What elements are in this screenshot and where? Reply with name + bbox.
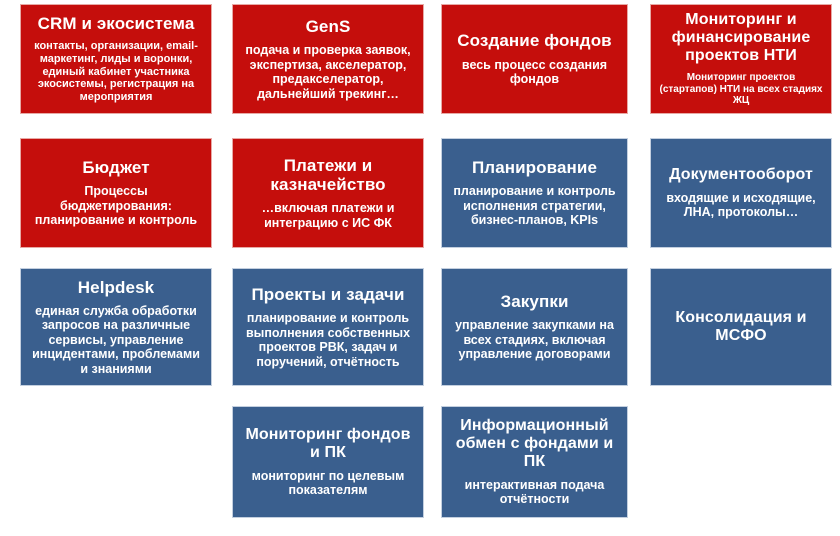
tile-sozdanie-fondov[interactable]: Создание фондов весь процесс создания фо… [441,4,628,114]
tile-description: единая служба обработки запросов на разл… [29,304,203,377]
tile-description: Мониторинг проектов (стартапов) НТИ на в… [659,72,823,107]
tile-proekty-i-zadachi[interactable]: Проекты и задачи планирование и контроль… [232,268,424,386]
tile-description: весь процесс создания фондов [450,58,619,87]
tile-monitoring-i-finansirovanie-proektov-nti[interactable]: Мониторинг и финансирование проектов НТИ… [650,4,832,114]
module-tile-board: CRM и экосистема контакты, организации, … [0,0,840,536]
tile-crm-i-ekosistema[interactable]: CRM и экосистема контакты, организации, … [20,4,212,114]
tile-title: Helpdesk [78,278,154,297]
tile-platezhi-i-kaznacheystvo[interactable]: Платежи и казначейство …включая платежи … [232,138,424,248]
tile-title: Создание фондов [457,31,611,50]
tile-description: …включая платежи и интеграцию с ИС ФК [241,201,415,230]
tile-description: Процессы бюджетирования: планирование и … [29,184,203,228]
tile-title: Консолидация и МСФО [659,309,823,345]
tile-title: Мониторинг и финансирование проектов НТИ [659,11,823,65]
tile-helpdesk[interactable]: Helpdesk единая служба обработки запросо… [20,268,212,386]
tile-description: контакты, организации, email-маркетинг, … [29,40,203,104]
tile-byudzhet[interactable]: Бюджет Процессы бюджетирования: планиров… [20,138,212,248]
tile-title: Планирование [472,158,597,177]
tile-title: Информационный обмен с фондами и ПК [450,417,619,471]
tile-title: Закупки [501,292,569,311]
tile-description: управление закупками на всех стадиях, вк… [450,318,619,362]
tile-title: CRM и экосистема [38,14,195,33]
tile-title: Проекты и задачи [251,285,404,304]
tile-gens[interactable]: GenS подача и проверка заявок, экспертиз… [232,4,424,114]
tile-title: GenS [306,17,351,36]
tile-description: подача и проверка заявок, экспертиза, ак… [241,43,415,101]
tile-title: Мониторинг фондов и ПК [241,426,415,462]
tile-zakupki[interactable]: Закупки управление закупками на всех ста… [441,268,628,386]
tile-description: интерактивная подача отчётности [450,478,619,507]
tile-description: мониторинг по целевым показателям [241,469,415,498]
tile-title: Документооборот [669,166,813,184]
tile-description: планирование и контроль исполнения страт… [450,184,619,228]
tile-dokumentooborot[interactable]: Документооборот входящие и исходящие, ЛН… [650,138,832,248]
tile-title: Бюджет [82,158,149,177]
tile-title: Платежи и казначейство [241,156,415,194]
tile-planirovanie[interactable]: Планирование планирование и контроль исп… [441,138,628,248]
tile-informatsionnyy-obmen-s-fondami-i-pk[interactable]: Информационный обмен с фондами и ПК инте… [441,406,628,518]
tile-description: входящие и исходящие, ЛНА, протоколы… [659,191,823,220]
tile-monitoring-fondov-i-pk[interactable]: Мониторинг фондов и ПК мониторинг по цел… [232,406,424,518]
tile-description: планирование и контроль выполнения собст… [241,311,415,369]
tile-konsolidatsiya-i-msfo[interactable]: Консолидация и МСФО [650,268,832,386]
